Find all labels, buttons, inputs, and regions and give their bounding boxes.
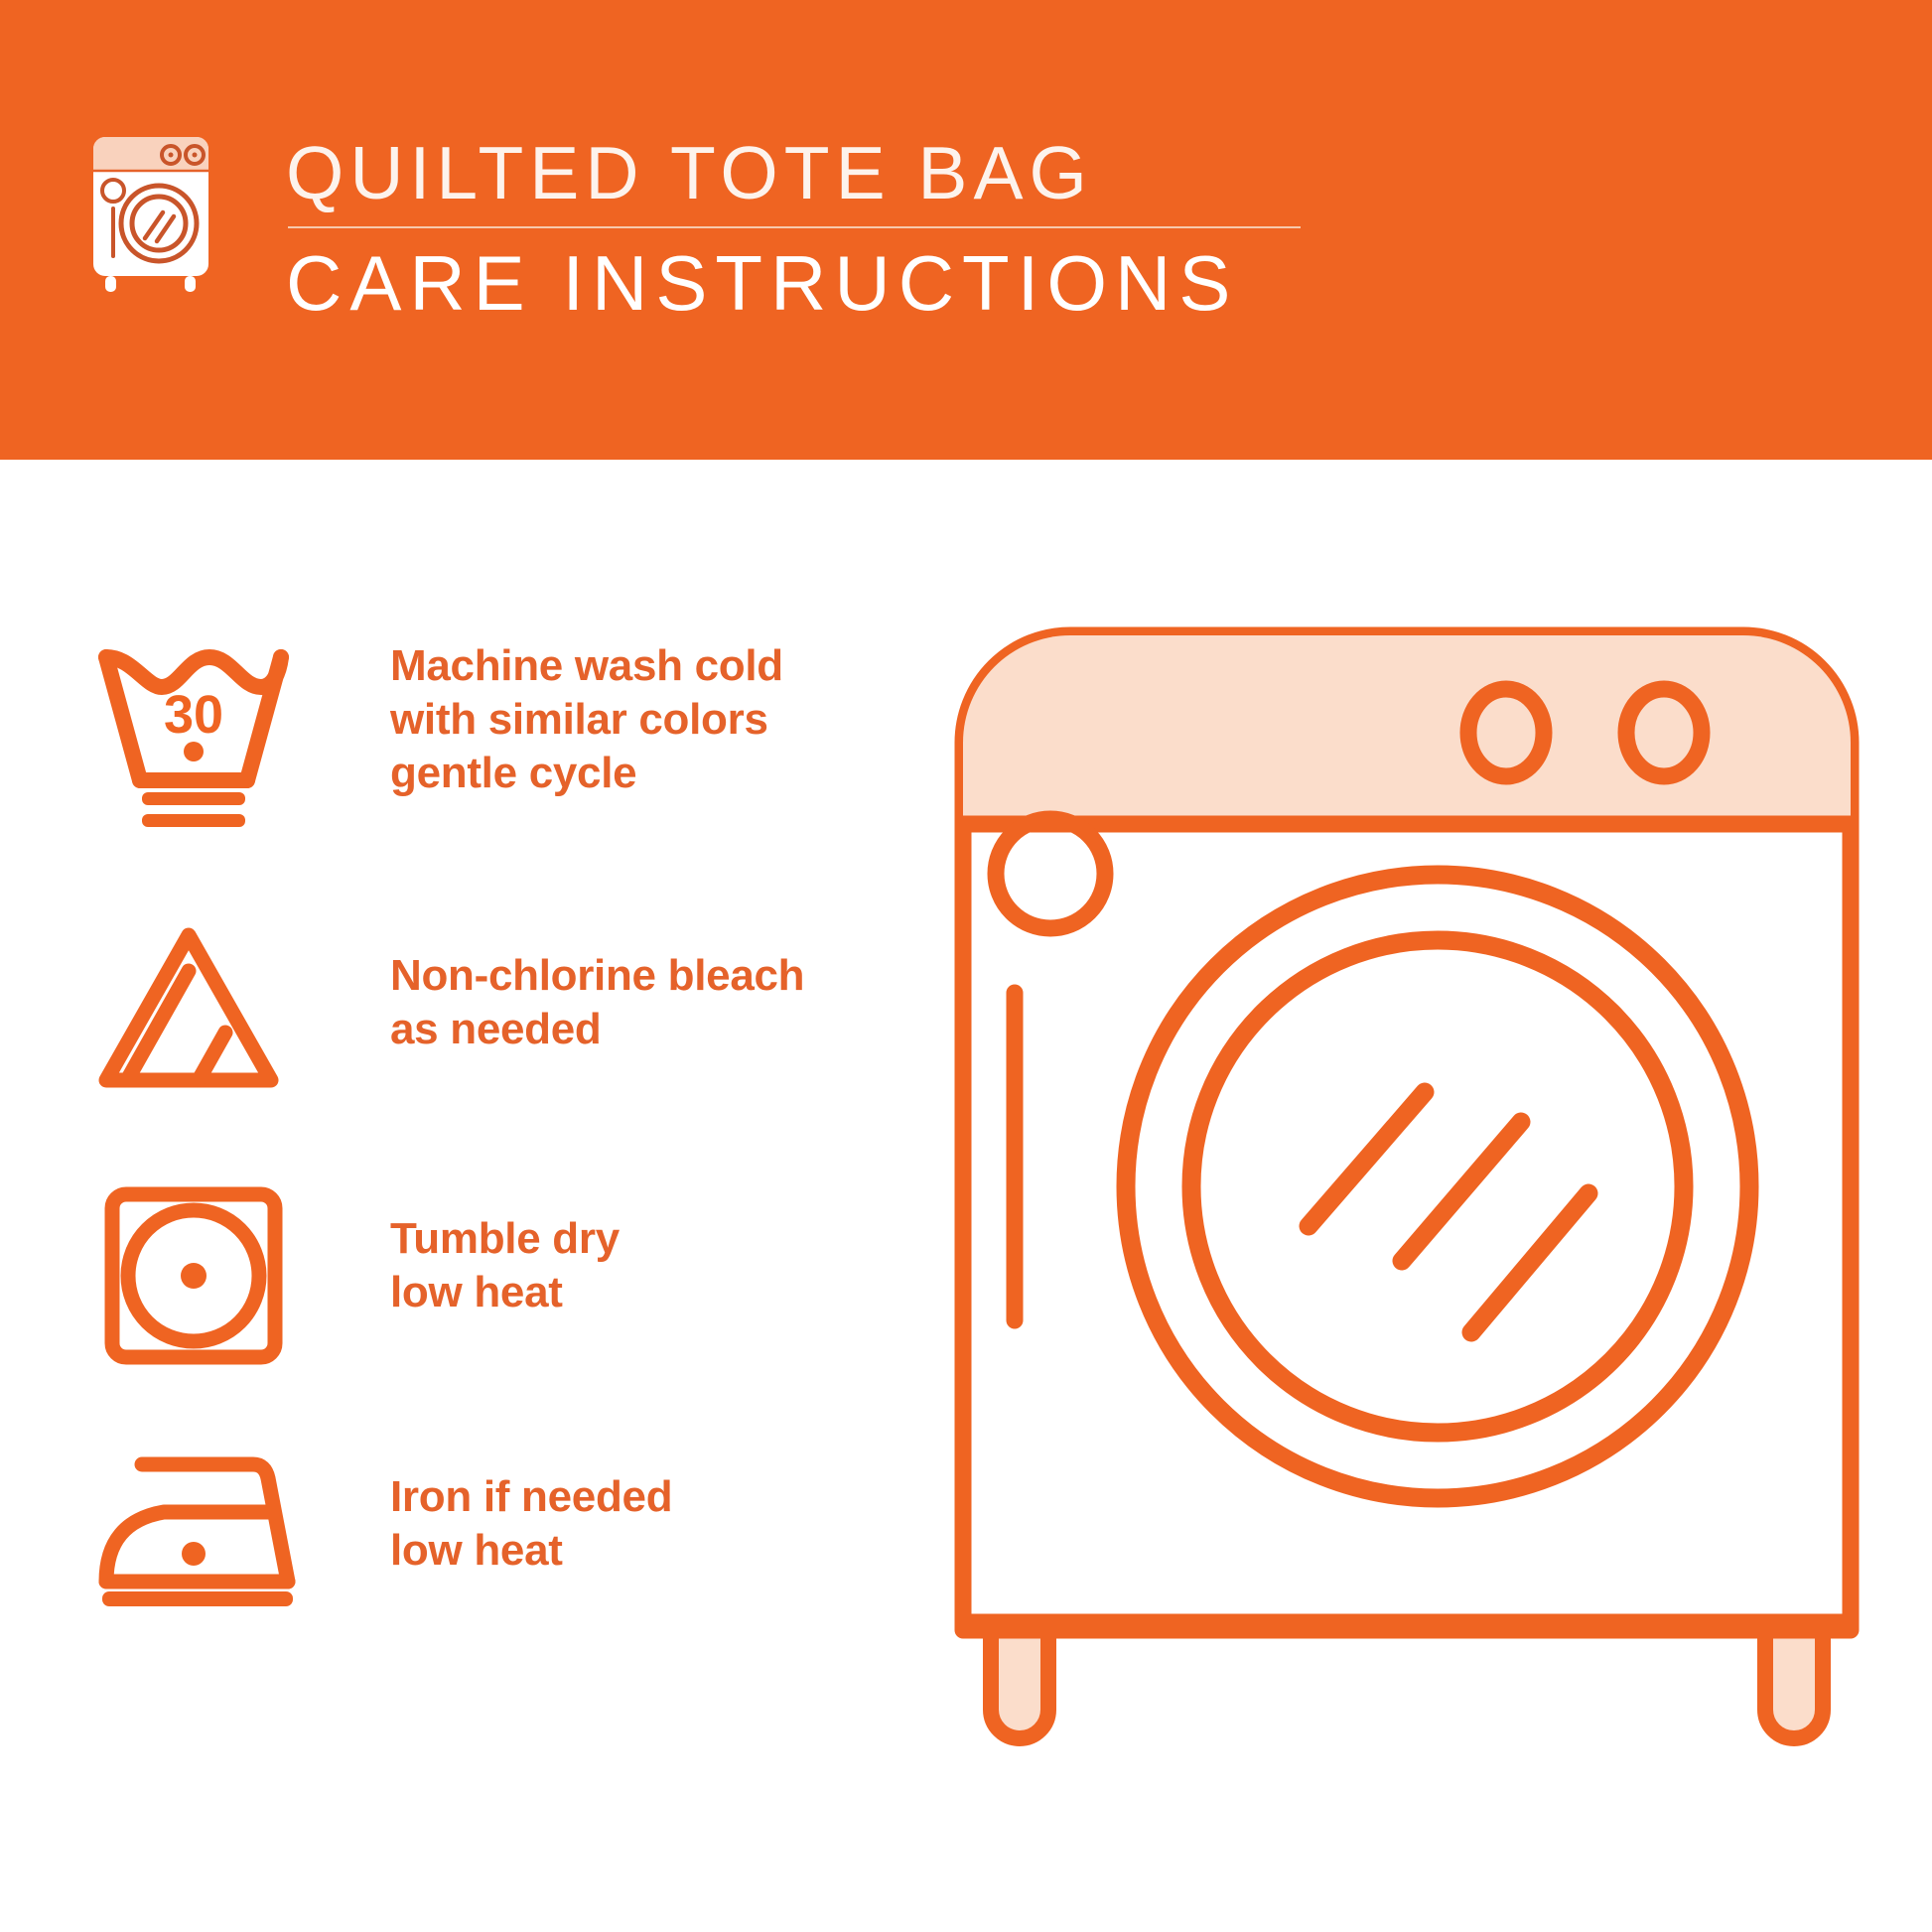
washing-machine-illustration [953,625,1886,1866]
care-item-label-iron: Iron if needed low heat [390,1470,672,1578]
care-text-line: gentle cycle [390,747,783,800]
iron-low-heat-icon [84,1435,303,1633]
knob-right [1626,689,1702,776]
header-text-block: QUILTED TOTE BAG CARE INSTRUCTIONS [286,131,1309,326]
header-banner: QUILTED TOTE BAG CARE INSTRUCTIONS [0,0,1932,460]
control-panel [963,635,1851,824]
washing-machine-icon [81,129,220,293]
care-text-line: low heat [390,1524,672,1578]
tumble-dry-low-heat-icon [84,1176,303,1375]
care-text-line: Machine wash cold [390,639,783,693]
care-text-line: Tumble dry [390,1212,620,1266]
non-chlorine-bleach-triangle-icon [84,913,303,1112]
knob-left [1468,689,1544,776]
care-item-bleach: Non-chlorine bleach as needed [0,913,943,1142]
care-text-line: low heat [390,1266,620,1319]
care-item-label-bleach: Non-chlorine bleach as needed [390,949,804,1056]
care-item-tumble-dry: Tumble dry low heat [0,1176,943,1405]
care-text-line: as needed [390,1003,804,1056]
care-item-label-tumble-dry: Tumble dry low heat [390,1212,620,1319]
care-item-iron: Iron if needed low heat [0,1435,943,1663]
care-item-label-machine-wash: Machine wash cold with similar colors ge… [390,639,783,800]
care-item-machine-wash: 30 Machine wash cold with similar colors… [0,635,943,864]
page-title: QUILTED TOTE BAG [286,131,1309,214]
title-divider [288,226,1301,228]
wash-basin-30-icon: 30 [84,635,303,834]
page-subtitle: CARE INSTRUCTIONS [286,240,1309,326]
care-text-line: Iron if needed [390,1470,672,1524]
care-text-line: Non-chlorine bleach [390,949,804,1003]
care-text-line: with similar colors [390,693,783,747]
wash-temperature-label: 30 [164,685,223,745]
